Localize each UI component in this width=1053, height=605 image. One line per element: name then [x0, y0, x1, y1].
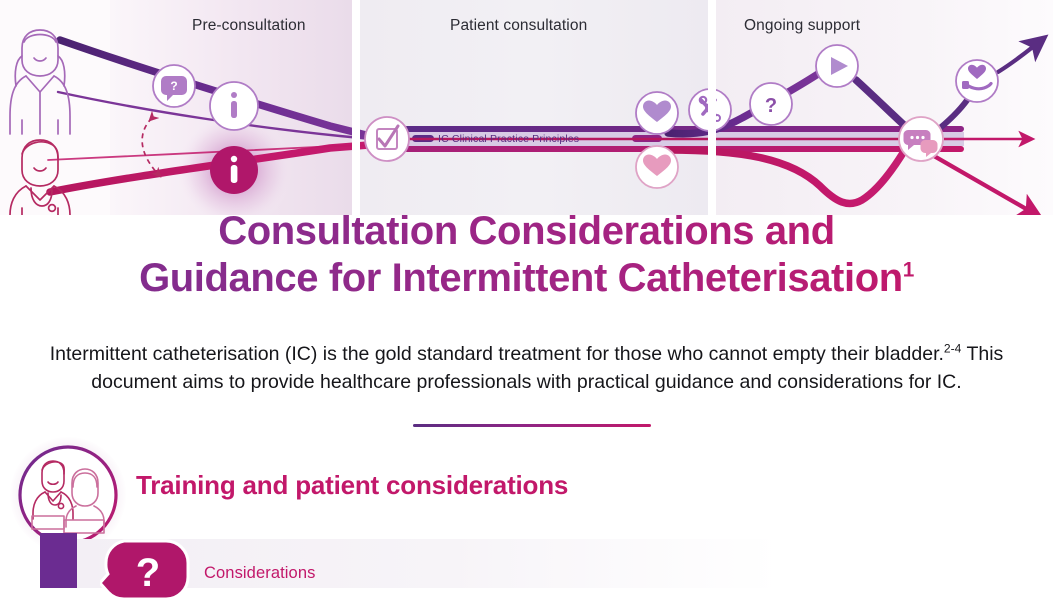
stage-label-pre-consultation: Pre-consultation	[192, 17, 306, 35]
considerations-label: Considerations	[204, 564, 315, 583]
intro-citation: 2-4	[944, 341, 961, 355]
two-people-consultation-icon	[16, 443, 120, 547]
section-divider	[413, 424, 651, 427]
hand-heart-icon[interactable]	[956, 60, 998, 102]
ic-clinical-practice-principles-label: IC Clinical Practice Principles	[438, 133, 579, 145]
section-badge	[16, 443, 120, 547]
svg-text:?: ?	[170, 79, 177, 93]
question-speech-bubble-icon: ?	[100, 538, 192, 600]
title-line-2: Guidance for Intermittent Catheterisatio…	[139, 256, 903, 300]
intro-text-part-1: Intermittent catheterisation (IC) is the…	[50, 343, 944, 365]
play-icon[interactable]	[816, 45, 858, 87]
question-bubble-icon[interactable]: ?	[153, 65, 195, 107]
intro-paragraph: Intermittent catheterisation (IC) is the…	[42, 340, 1012, 397]
page-title: Consultation Considerations and Guidance…	[0, 208, 1053, 302]
speech-bubbles-icon[interactable]	[899, 117, 943, 161]
question-icon[interactable]: ?	[750, 83, 792, 125]
title-citation: 1	[903, 258, 914, 281]
bubble-glyph: ?	[136, 551, 160, 595]
info-icon-filled[interactable]	[210, 146, 258, 194]
considerations-bubble-icon[interactable]: ?	[100, 538, 192, 600]
stage-label-patient-consultation: Patient consultation	[450, 17, 587, 35]
stage-label-ongoing-support: Ongoing support	[744, 17, 860, 35]
section-pillar	[40, 533, 77, 588]
info-icon[interactable]	[210, 82, 258, 130]
title-line-1: Consultation Considerations and	[218, 209, 835, 253]
panel-divider-left	[352, 0, 360, 215]
patient-journey-banner: ?	[0, 0, 1053, 215]
heart-icon[interactable]	[636, 92, 678, 134]
section-heading: Training and patient considerations	[136, 470, 568, 501]
svg-text:?: ?	[765, 95, 777, 117]
heart-icon[interactable]	[636, 146, 678, 188]
checklist-icon[interactable]	[365, 117, 409, 161]
panel-divider-right	[708, 0, 716, 215]
